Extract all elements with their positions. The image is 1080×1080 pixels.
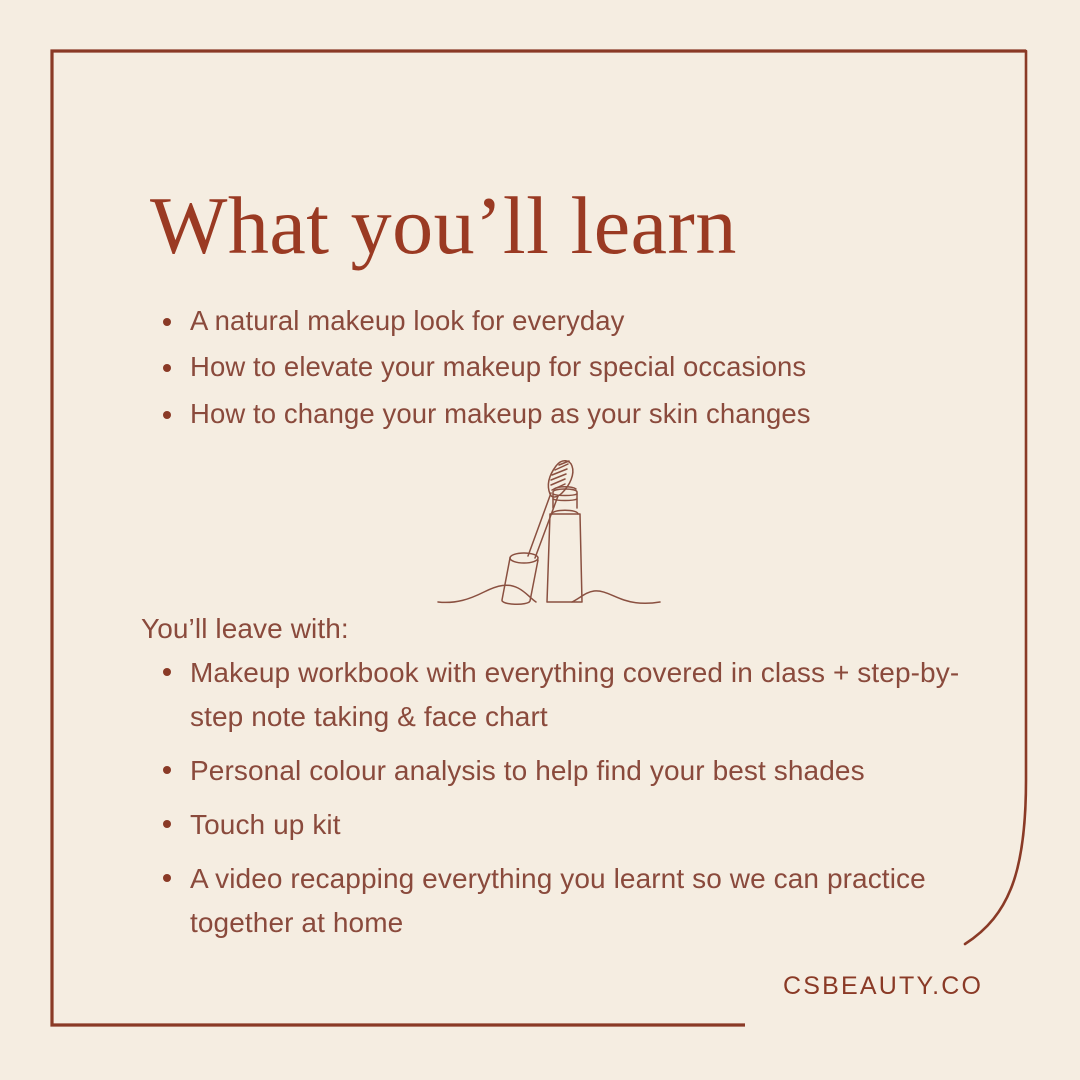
brand-watermark: CSBEAUTY.CO <box>783 972 983 1001</box>
poster-canvas: What you’ll learn A natural makeup look … <box>0 0 1080 1080</box>
list-item: Makeup workbook with everything covered … <box>152 651 962 739</box>
list-item: How to change your makeup as your skin c… <box>152 396 972 432</box>
mascara-tube-and-wand-icon <box>432 452 688 632</box>
leave-with-heading: You’ll leave with: <box>141 611 349 647</box>
list-item: How to elevate your makeup for special o… <box>152 349 972 385</box>
page-title: What you’ll learn <box>150 185 737 267</box>
you-will-leave-with-list: Makeup workbook with everything covered … <box>152 651 962 955</box>
list-item: Touch up kit <box>152 803 962 847</box>
list-item: A video recapping everything you learnt … <box>152 857 962 945</box>
what-you-will-learn-list: A natural makeup look for everyday How t… <box>152 303 972 442</box>
list-item: Personal colour analysis to help find yo… <box>152 749 962 793</box>
list-item: A natural makeup look for everyday <box>152 303 972 339</box>
